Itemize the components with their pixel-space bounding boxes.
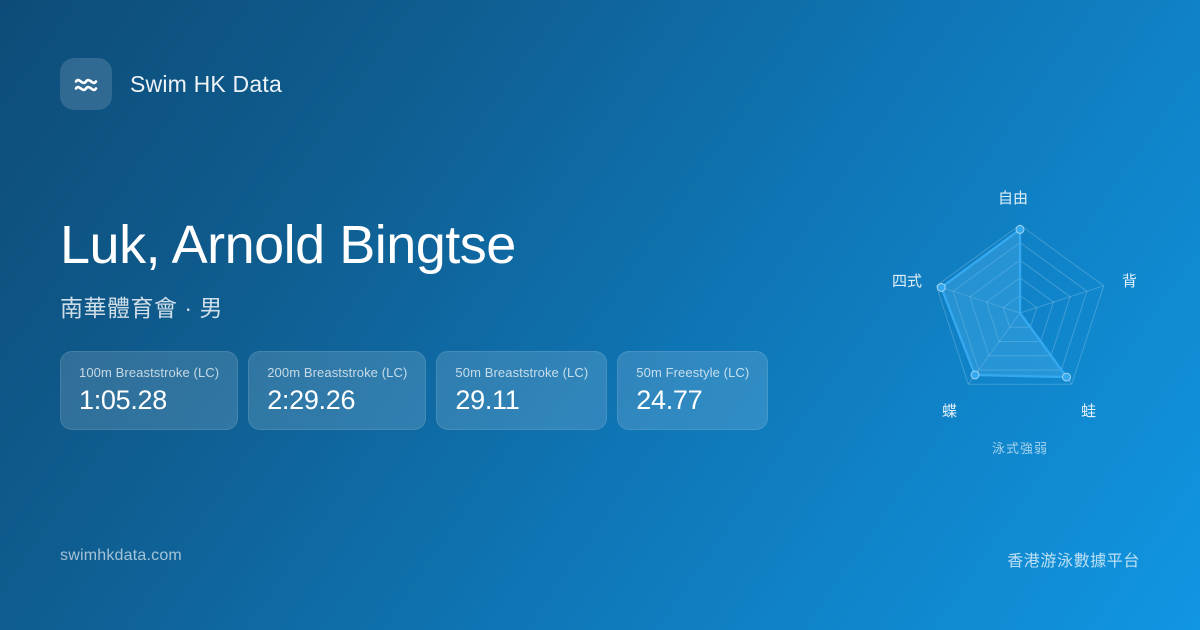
radar-caption: 泳式強弱 [870,438,1170,457]
stat-card-label: 50m Freestyle (LC) [636,365,749,380]
brand-name: Swim HK Data [130,71,282,98]
stat-card-label: 100m Breaststroke (LC) [79,365,219,380]
stat-card-list: 100m Breaststroke (LC) 1:05.28 200m Brea… [60,351,768,430]
radar-axis-label-fly: 蝶 [942,400,957,421]
radar-axis-label-back: 背 [1122,270,1137,291]
radar-axis-label-free: 自由 [998,187,1028,208]
stat-card-label: 200m Breaststroke (LC) [267,365,407,380]
radar-chart: 自由 背 蛙 蝶 四式 泳式強弱 [870,170,1170,470]
wave-icon [60,58,112,110]
page-subtitle: 南華體育會 · 男 [60,289,516,323]
poster-canvas: Swim HK Data Luk, Arnold Bingtse 南華體育會 ·… [0,0,1200,630]
radar-axis-label-breast: 蛙 [1081,400,1096,421]
radar-axis-label-im: 四式 [892,270,922,291]
footer-tagline: 香港游泳數據平台 [1007,547,1140,571]
page-title: Luk, Arnold Bingtse [60,215,516,275]
stat-card-value: 29.11 [455,385,588,416]
brand-lockup: Swim HK Data [60,58,282,110]
radar-chart-svg [870,170,1170,470]
hero-block: Luk, Arnold Bingtse 南華體育會 · 男 [60,215,516,323]
stat-card-value: 24.77 [636,385,749,416]
stat-card[interactable]: 50m Freestyle (LC) 24.77 [617,351,768,430]
footer-site-url[interactable]: swimhkdata.com [60,547,182,565]
stat-card[interactable]: 50m Breaststroke (LC) 29.11 [436,351,607,430]
stat-card[interactable]: 200m Breaststroke (LC) 2:29.26 [248,351,426,430]
stat-card-label: 50m Breaststroke (LC) [455,365,588,380]
stat-card[interactable]: 100m Breaststroke (LC) 1:05.28 [60,351,238,430]
stat-card-value: 2:29.26 [267,385,407,416]
stat-card-value: 1:05.28 [79,385,219,416]
